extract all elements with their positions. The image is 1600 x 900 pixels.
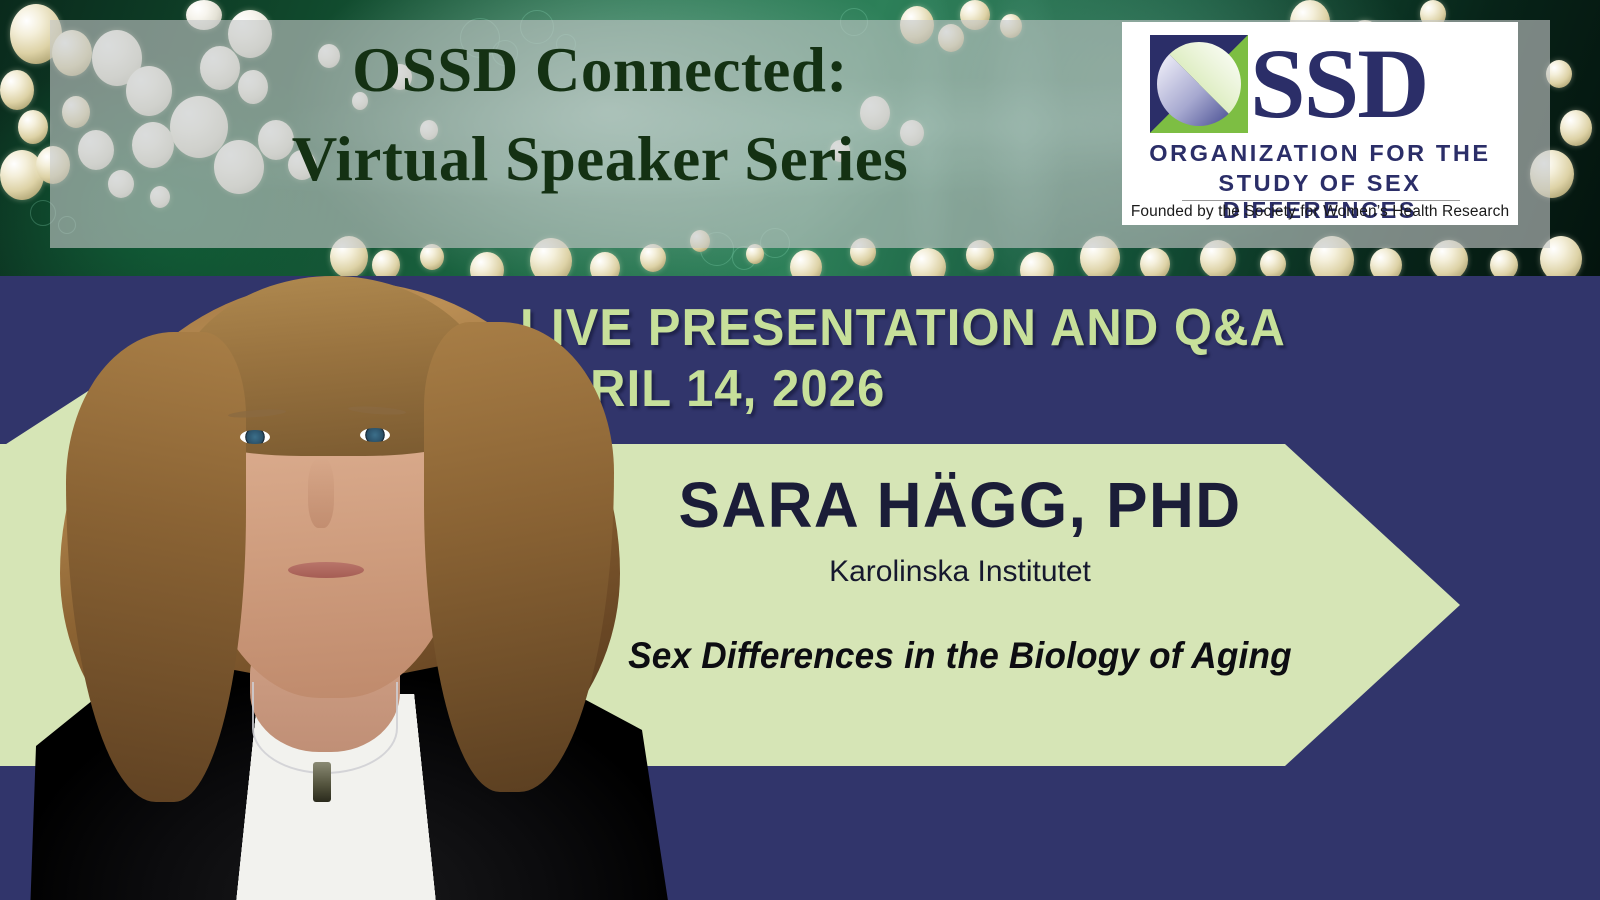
logo-tagline-line-1: ORGANIZATION FOR THE <box>1122 140 1518 167</box>
portrait-necklace <box>252 682 398 774</box>
logo-wordmark: SSD <box>1250 41 1427 127</box>
header-banner: OSSD Connected: Virtual Speaker Series S… <box>0 0 1600 276</box>
portrait-mouth <box>288 562 364 578</box>
ossd-logo: SSD ORGANIZATION FOR THE STUDY OF SEX DI… <box>1122 22 1518 225</box>
speaker-announcement-poster: OSSD Connected: Virtual Speaker Series S… <box>0 0 1600 900</box>
portrait-nose <box>308 458 334 528</box>
title-line-1: OSSD Connected: <box>352 35 848 105</box>
title-line-2: Virtual Speaker Series <box>120 115 1080 204</box>
speaker-portrait <box>0 262 680 900</box>
logo-divider <box>1182 200 1460 201</box>
portrait-pendant <box>313 762 331 802</box>
poster-body: LIVE PRESENTATION AND Q&A APRIL 14, 2026… <box>0 276 1600 900</box>
logo-wordmark-row: SSD <box>1150 35 1427 133</box>
logo-founded-note: Founded by the Society for Women’s Healt… <box>1122 203 1518 221</box>
ossd-circle-logo-icon <box>1150 35 1248 133</box>
portrait-eye-right <box>360 428 390 442</box>
portrait-eye-left <box>240 430 270 444</box>
page-title: OSSD Connected: Virtual Speaker Series <box>120 26 1080 205</box>
